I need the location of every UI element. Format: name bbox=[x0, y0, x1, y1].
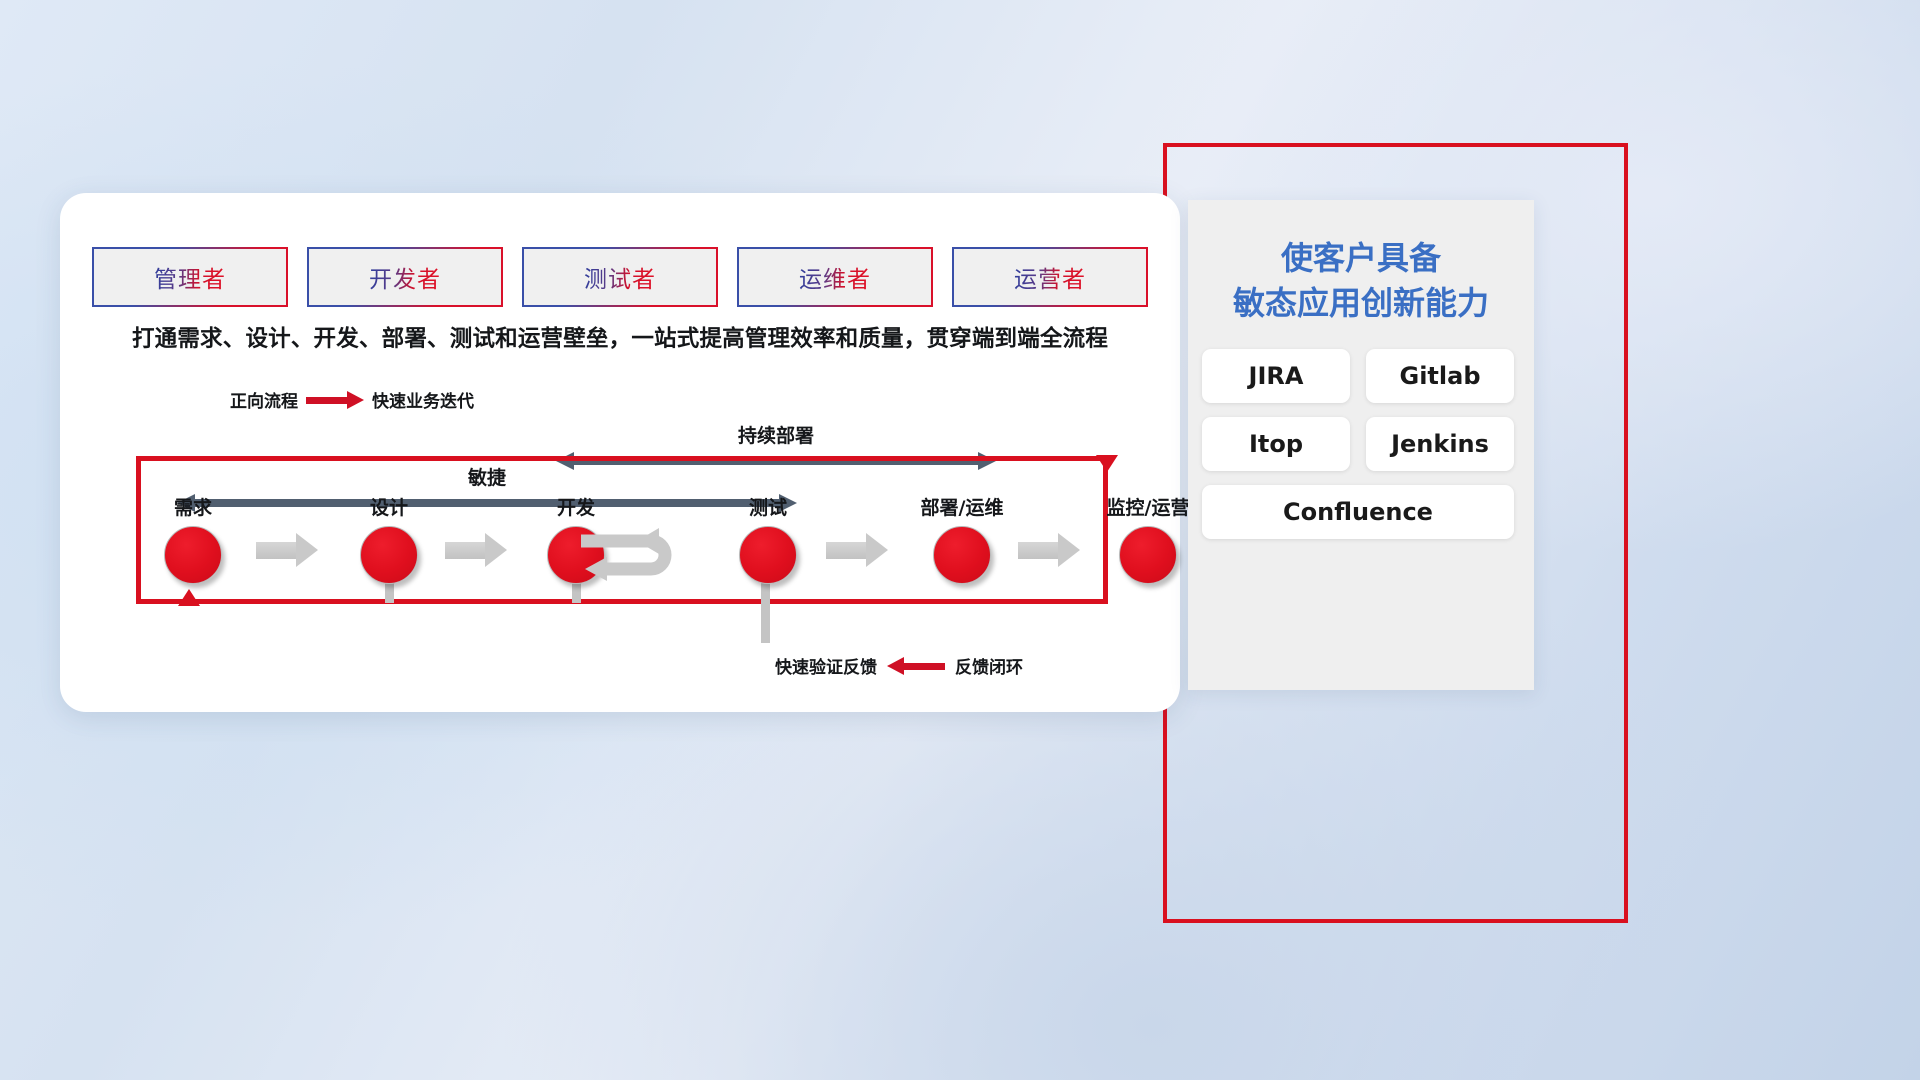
feedback-loop-legend: 快速验证反馈 反馈闭环 bbox=[775, 653, 1023, 678]
span-label: 持续部署 bbox=[556, 421, 996, 448]
stage-label: 开发 bbox=[516, 493, 636, 520]
stage-label: 测试 bbox=[708, 493, 828, 520]
devops-overview-card: 管理者 开发者 测试者 运维者 运营者 打通需求、设计、开发、部署、测试和运营壁… bbox=[60, 193, 1180, 712]
flow-arrow-icon bbox=[445, 533, 507, 567]
stage-node-requirement[interactable]: 需求 bbox=[133, 493, 253, 584]
panel-title-line-1: 使客户具备 bbox=[1188, 236, 1534, 281]
slide-canvas: 管理者 开发者 测试者 运维者 运营者 打通需求、设计、开发、部署、测试和运营壁… bbox=[0, 0, 1920, 1080]
tool-pill-gitlab[interactable]: Gitlab bbox=[1366, 349, 1514, 403]
card-description: 打通需求、设计、开发、部署、测试和运营壁垒，一站式提高管理效率和质量，贯穿端到端… bbox=[60, 321, 1180, 353]
panel-title: 使客户具备 敏态应用创新能力 bbox=[1188, 200, 1534, 327]
arrow-head bbox=[866, 533, 888, 567]
pipeline-stage-row: 需求 设计 开发 bbox=[60, 493, 1180, 603]
arrow-shaft bbox=[1018, 542, 1060, 559]
forward-flow-source-label: 正向流程 bbox=[230, 387, 298, 412]
capability-panel: 使客户具备 敏态应用创新能力 JIRA Gitlab Itop Jenkins … bbox=[1188, 200, 1534, 690]
iteration-loop-icon bbox=[577, 525, 687, 583]
stage-dot-icon bbox=[360, 526, 418, 584]
stage-label: 需求 bbox=[133, 493, 253, 520]
stage-node-testing[interactable]: 测试 bbox=[708, 493, 828, 584]
role-box-manager[interactable]: 管理者 bbox=[92, 247, 288, 307]
feedback-source-label: 快速验证反馈 bbox=[775, 653, 877, 678]
forward-flow-legend: 正向流程 快速业务迭代 bbox=[230, 387, 474, 412]
role-box-operations[interactable]: 运营者 bbox=[952, 247, 1148, 307]
feedback-target-label: 反馈闭环 bbox=[955, 653, 1023, 678]
stage-label: 部署/运维 bbox=[902, 493, 1022, 520]
stage-node-deploy-ops[interactable]: 部署/运维 bbox=[902, 493, 1022, 584]
arrow-shaft bbox=[826, 542, 868, 559]
tool-pill-jira[interactable]: JIRA bbox=[1202, 349, 1350, 403]
stage-label: 设计 bbox=[329, 493, 449, 520]
stage-dot-icon bbox=[739, 526, 797, 584]
tool-pill-jenkins[interactable]: Jenkins bbox=[1366, 417, 1514, 471]
role-label: 开发者 bbox=[369, 260, 441, 294]
panel-title-line-2: 敏态应用创新能力 bbox=[1188, 281, 1534, 326]
forward-flow-target-label: 快速业务迭代 bbox=[372, 387, 474, 412]
role-box-developer[interactable]: 开发者 bbox=[307, 247, 503, 307]
arrow-left-icon bbox=[887, 660, 945, 672]
arrow-shaft bbox=[445, 542, 487, 559]
role-label: 运维者 bbox=[799, 260, 871, 294]
role-box-row: 管理者 开发者 测试者 运维者 运营者 bbox=[92, 247, 1148, 309]
role-box-ops[interactable]: 运维者 bbox=[737, 247, 933, 307]
role-label: 测试者 bbox=[584, 260, 656, 294]
loop-arrow-down-icon bbox=[1096, 455, 1118, 472]
stage-dot-icon bbox=[933, 526, 991, 584]
flow-arrow-icon bbox=[1018, 533, 1080, 567]
role-label: 运营者 bbox=[1014, 260, 1086, 294]
flow-arrow-icon bbox=[826, 533, 888, 567]
tool-pill-confluence[interactable]: Confluence bbox=[1202, 485, 1514, 539]
arrow-head bbox=[485, 533, 507, 567]
span-label: 敏捷 bbox=[177, 463, 797, 490]
tool-pill-itop[interactable]: Itop bbox=[1202, 417, 1350, 471]
stage-node-design[interactable]: 设计 bbox=[329, 493, 449, 584]
arrow-head bbox=[1058, 533, 1080, 567]
arrow-right-icon bbox=[306, 394, 364, 406]
arrow-head bbox=[296, 533, 318, 567]
stage-dot-icon bbox=[164, 526, 222, 584]
tool-list: JIRA Gitlab Itop Jenkins Confluence bbox=[1202, 349, 1520, 539]
arrow-shaft bbox=[256, 542, 298, 559]
role-box-tester[interactable]: 测试者 bbox=[522, 247, 718, 307]
role-label: 管理者 bbox=[154, 260, 226, 294]
flow-arrow-icon bbox=[256, 533, 318, 567]
stage-dot-icon bbox=[1119, 526, 1177, 584]
